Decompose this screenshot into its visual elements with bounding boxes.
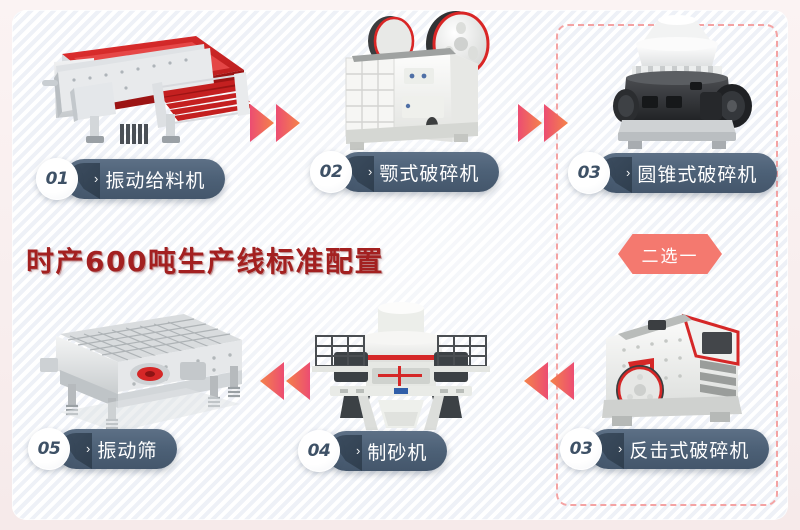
- stage-pill-03-impact[interactable]: › 反击式破碎机: [588, 429, 769, 469]
- production-line-flow-poster: 01 › 振动给料机: [0, 0, 800, 530]
- stage-pill-05[interactable]: › 振动筛: [56, 429, 177, 469]
- stage-number-02: 02: [310, 151, 352, 193]
- stage-name-03-impact: 反击式破碎机: [629, 436, 749, 463]
- jaw-crusher-icon: [332, 8, 512, 158]
- stage-number-03-impact: 03: [560, 428, 602, 470]
- vibrating-screen-icon: [34, 300, 254, 436]
- stage-label-04[interactable]: 04 › 制砂机: [298, 430, 447, 472]
- stage-name-02: 颚式破碎机: [379, 159, 479, 186]
- stage-label-05[interactable]: 05 › 振动筛: [28, 428, 177, 470]
- chevron-right-icon: ›: [94, 172, 98, 185]
- stage-name-04: 制砂机: [367, 438, 427, 465]
- arrow-sand-to-screen: [254, 358, 312, 404]
- stage-pill-02[interactable]: › 颚式破碎机: [338, 152, 499, 192]
- stage-pill-04[interactable]: › 制砂机: [326, 431, 447, 471]
- stage-name-01: 振动给料机: [105, 166, 205, 193]
- choose-one-of-two-tag: 二选一: [618, 234, 722, 274]
- arrow-impact-to-sand: [518, 358, 576, 404]
- page-headline: 时产600吨生产线标准配置: [26, 240, 384, 280]
- chevron-right-icon: ›: [618, 442, 622, 455]
- chevron-right-icon: ›: [626, 166, 630, 179]
- choose-one-of-two-label: 二选一: [642, 242, 699, 267]
- stage-number-05: 05: [28, 428, 70, 470]
- chevron-right-icon: ›: [86, 442, 90, 455]
- cone-crusher-icon: [592, 10, 762, 158]
- stage-label-02[interactable]: 02 › 颚式破碎机: [310, 151, 499, 193]
- stage-name-05: 振动筛: [97, 436, 157, 463]
- stage-label-01[interactable]: 01 › 振动给料机: [36, 158, 225, 200]
- stage-number-03-cone: 03: [568, 152, 610, 194]
- stage-name-03-cone: 圆锥式破碎机: [637, 160, 757, 187]
- sand-making-machine-icon: [300, 300, 500, 434]
- impact-crusher-icon: [588, 298, 768, 434]
- stage-pill-01[interactable]: › 振动给料机: [64, 159, 225, 199]
- stage-number-01: 01: [36, 158, 78, 200]
- stage-pill-03-cone[interactable]: › 圆锥式破碎机: [596, 153, 777, 193]
- chevron-right-icon: ›: [368, 165, 372, 178]
- vibrating-feeder-icon: [34, 18, 254, 160]
- stage-label-03-impact[interactable]: 03 › 反击式破碎机: [560, 428, 769, 470]
- arrow-feeder-to-jaw: [248, 100, 306, 146]
- stage-number-04: 04: [298, 430, 340, 472]
- stage-label-03-cone[interactable]: 03 › 圆锥式破碎机: [568, 152, 777, 194]
- chevron-right-icon: ›: [356, 444, 360, 457]
- arrow-jaw-to-cone: [516, 100, 574, 146]
